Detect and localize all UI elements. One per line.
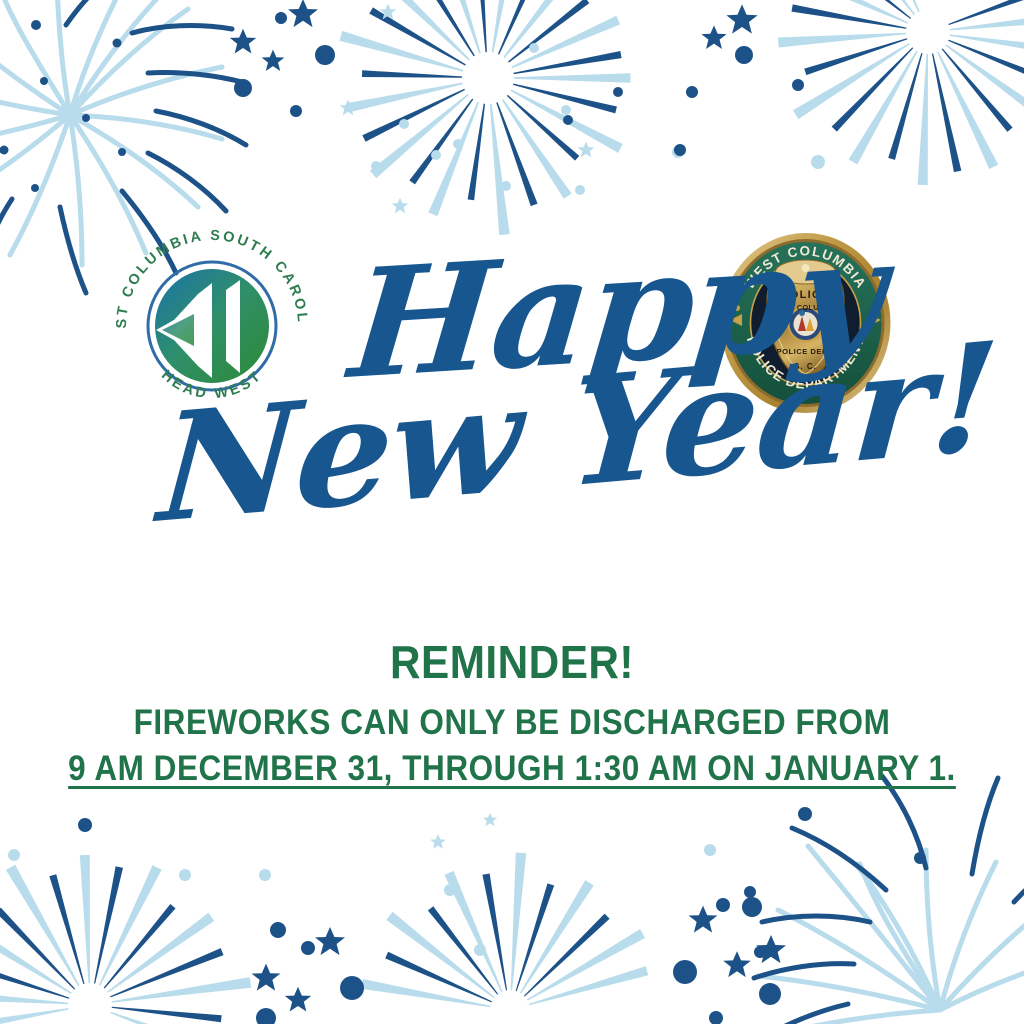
firework-bottom-center — [361, 813, 648, 1024]
reminder-line-2: 9 AM DECEMBER 31, THROUGH 1:30 AM ON JAN… — [51, 746, 973, 792]
reminder-title: REMINDER! — [41, 636, 983, 688]
firework-top-center — [340, 0, 631, 235]
star-cluster-bottom — [252, 897, 786, 1024]
star-cluster-top-left — [0, 0, 335, 192]
reminder-line-1: FIREWORKS CAN ONLY BE DISCHARGED FROM — [51, 700, 973, 746]
firework-bottom-right — [704, 776, 1024, 1024]
headline-script: Happy New Year! — [0, 236, 1024, 596]
firework-bottom-left — [0, 818, 271, 1024]
star-cluster-top-right — [431, 4, 804, 160]
headline-line-new-year: New Year! — [155, 322, 1001, 544]
new-year-announcement-poster: WEST COLUMBIA SOUTH CAROLINA HEAD WEST — [0, 0, 1024, 1024]
reminder-block: REMINDER! FIREWORKS CAN ONLY BE DISCHARG… — [0, 636, 1024, 792]
